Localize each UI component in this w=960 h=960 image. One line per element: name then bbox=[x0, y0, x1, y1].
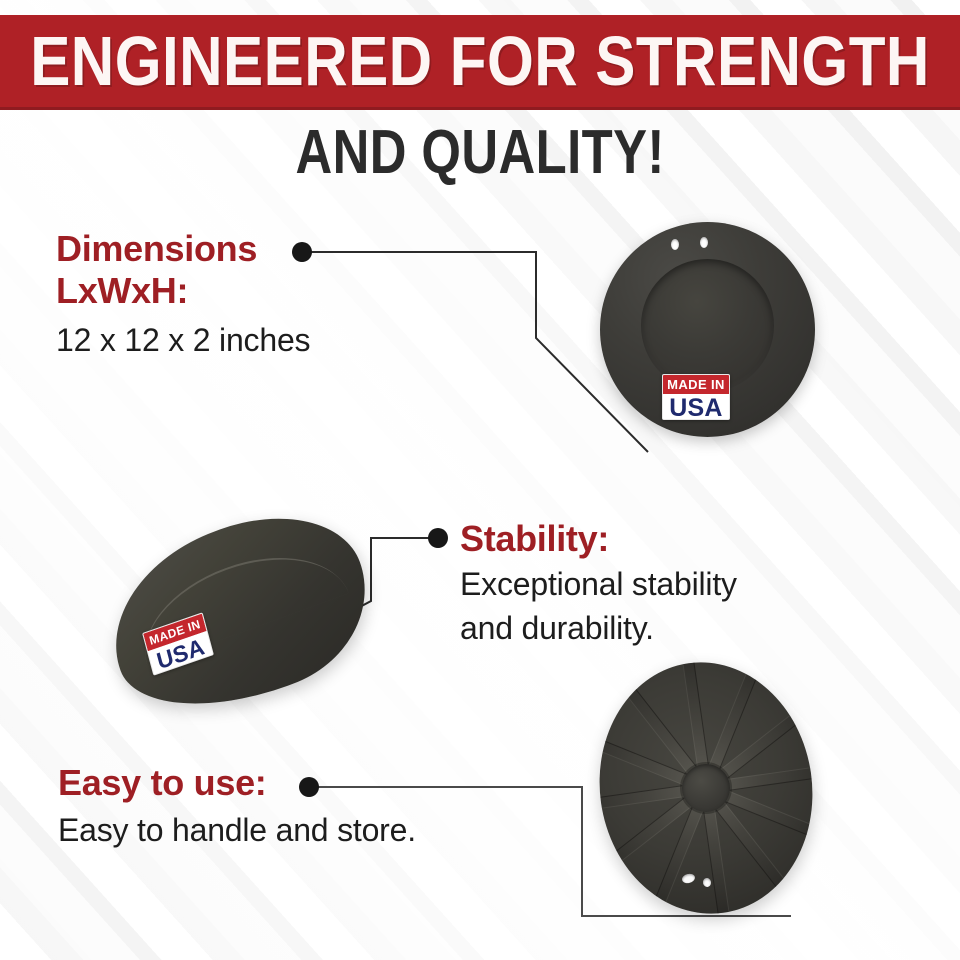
product-image-disc-top-view: MADE IN USA bbox=[600, 222, 815, 437]
header-banner: ENGINEERED FOR STRENGTH bbox=[0, 15, 960, 110]
badge-usa-text: USA bbox=[663, 394, 729, 420]
feature-stability: Stability: Exceptional stability and dur… bbox=[460, 518, 737, 648]
underside-center-hub bbox=[682, 764, 730, 812]
badge-made-in-text: MADE IN bbox=[663, 375, 729, 394]
feature-dimensions-title-line2: LxWxH: bbox=[56, 270, 310, 312]
feature-dimensions-title-line1: Dimensions bbox=[56, 228, 310, 270]
feature-dimensions-value: 12 x 12 x 2 inches bbox=[56, 320, 310, 360]
feature-stability-title: Stability: bbox=[460, 518, 737, 560]
banner-title: ENGINEERED FOR STRENGTH bbox=[30, 26, 930, 96]
header-subtitle: AND QUALITY! bbox=[0, 122, 960, 184]
disc-hole-right bbox=[700, 237, 708, 248]
feature-easy-to-use: Easy to use: Easy to handle and store. bbox=[58, 762, 416, 850]
product-image-disc-side-profile: MADE IN USA bbox=[108, 528, 370, 698]
feature-easy-to-use-body: Easy to handle and store. bbox=[58, 810, 416, 850]
product-image-disc-underside-ribbed bbox=[600, 662, 812, 914]
feature-easy-to-use-title: Easy to use: bbox=[58, 762, 416, 804]
disc-hole-left bbox=[671, 239, 679, 250]
made-in-usa-badge: MADE IN USA bbox=[662, 374, 730, 420]
feature-stability-body-line1: Exceptional stability bbox=[460, 564, 737, 604]
feature-stability-body-line2: and durability. bbox=[460, 608, 737, 648]
subtitle-text: AND QUALITY! bbox=[295, 122, 664, 184]
feature-dimensions: Dimensions LxWxH: 12 x 12 x 2 inches bbox=[56, 228, 310, 360]
product-infographic: ENGINEERED FOR STRENGTH AND QUALITY! Dim… bbox=[0, 0, 960, 960]
